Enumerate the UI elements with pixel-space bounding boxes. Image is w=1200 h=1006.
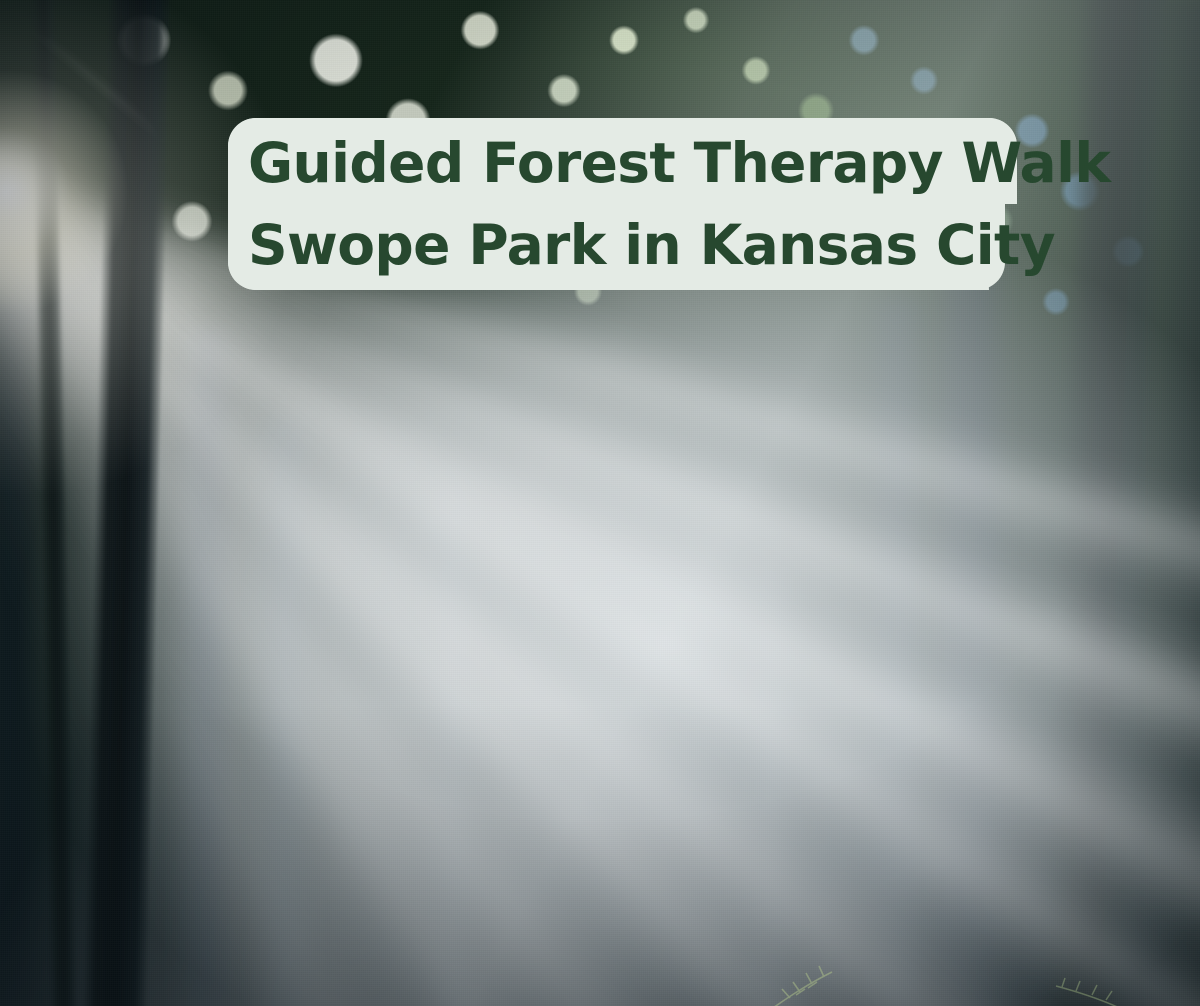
tree-trunk-center-far <box>430 480 476 1006</box>
tree-trunk-mid-second <box>258 420 312 1006</box>
title-line-2: Swope Park in Kansas City <box>248 204 1017 286</box>
tree-trunk-right-mist-a <box>870 300 926 1006</box>
foreground-plant-sprig-right <box>1028 962 1138 1006</box>
tree-trunk-mid-left <box>176 330 234 1006</box>
event-promo-poster: Guided Forest Therapy Walk Swope Park in… <box>0 0 1200 1006</box>
tree-trunk-left-outer <box>0 300 40 1006</box>
tree-trunk-right-mist-b <box>935 260 1007 1006</box>
tree-trunk-far-right-edge <box>1148 0 1200 1006</box>
foreground-plant-sprig-left <box>760 950 880 1006</box>
tree-trunk-left-wide <box>83 0 170 1006</box>
title-text-block: Guided Forest Therapy Walk Swope Park in… <box>228 118 1017 290</box>
tree-trunk-right-far <box>752 560 792 1006</box>
tree-trunk-left-thin <box>29 0 76 1006</box>
title-card: Guided Forest Therapy Walk Swope Park in… <box>228 118 1017 290</box>
title-line-1: Guided Forest Therapy Walk <box>248 122 1017 204</box>
